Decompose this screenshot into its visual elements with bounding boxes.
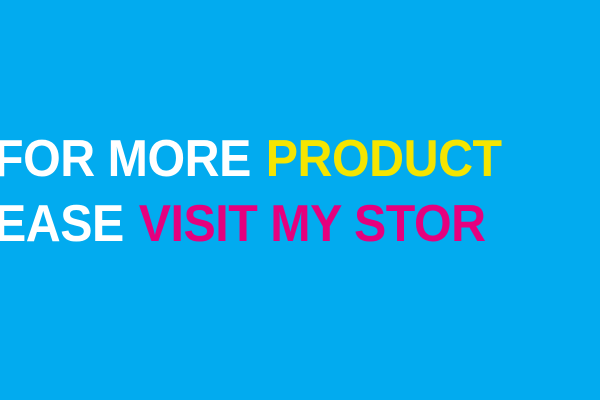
headline-segment-visit-my-store: VISIT MY STOR [139, 195, 486, 253]
headline-segment-please: EASE [0, 195, 124, 253]
promo-banner: FOR MOREPRODUCT EASEVISIT MY STOR [0, 0, 600, 400]
headline-segment-for-more: FOR MORE [0, 130, 251, 188]
headline-line-2: EASEVISIT MY STOR [0, 198, 486, 250]
headline-line-1: FOR MOREPRODUCT [0, 133, 502, 185]
headline-segment-product: PRODUCT [266, 130, 502, 188]
headline-text-block: FOR MOREPRODUCT EASEVISIT MY STOR [0, 0, 600, 400]
